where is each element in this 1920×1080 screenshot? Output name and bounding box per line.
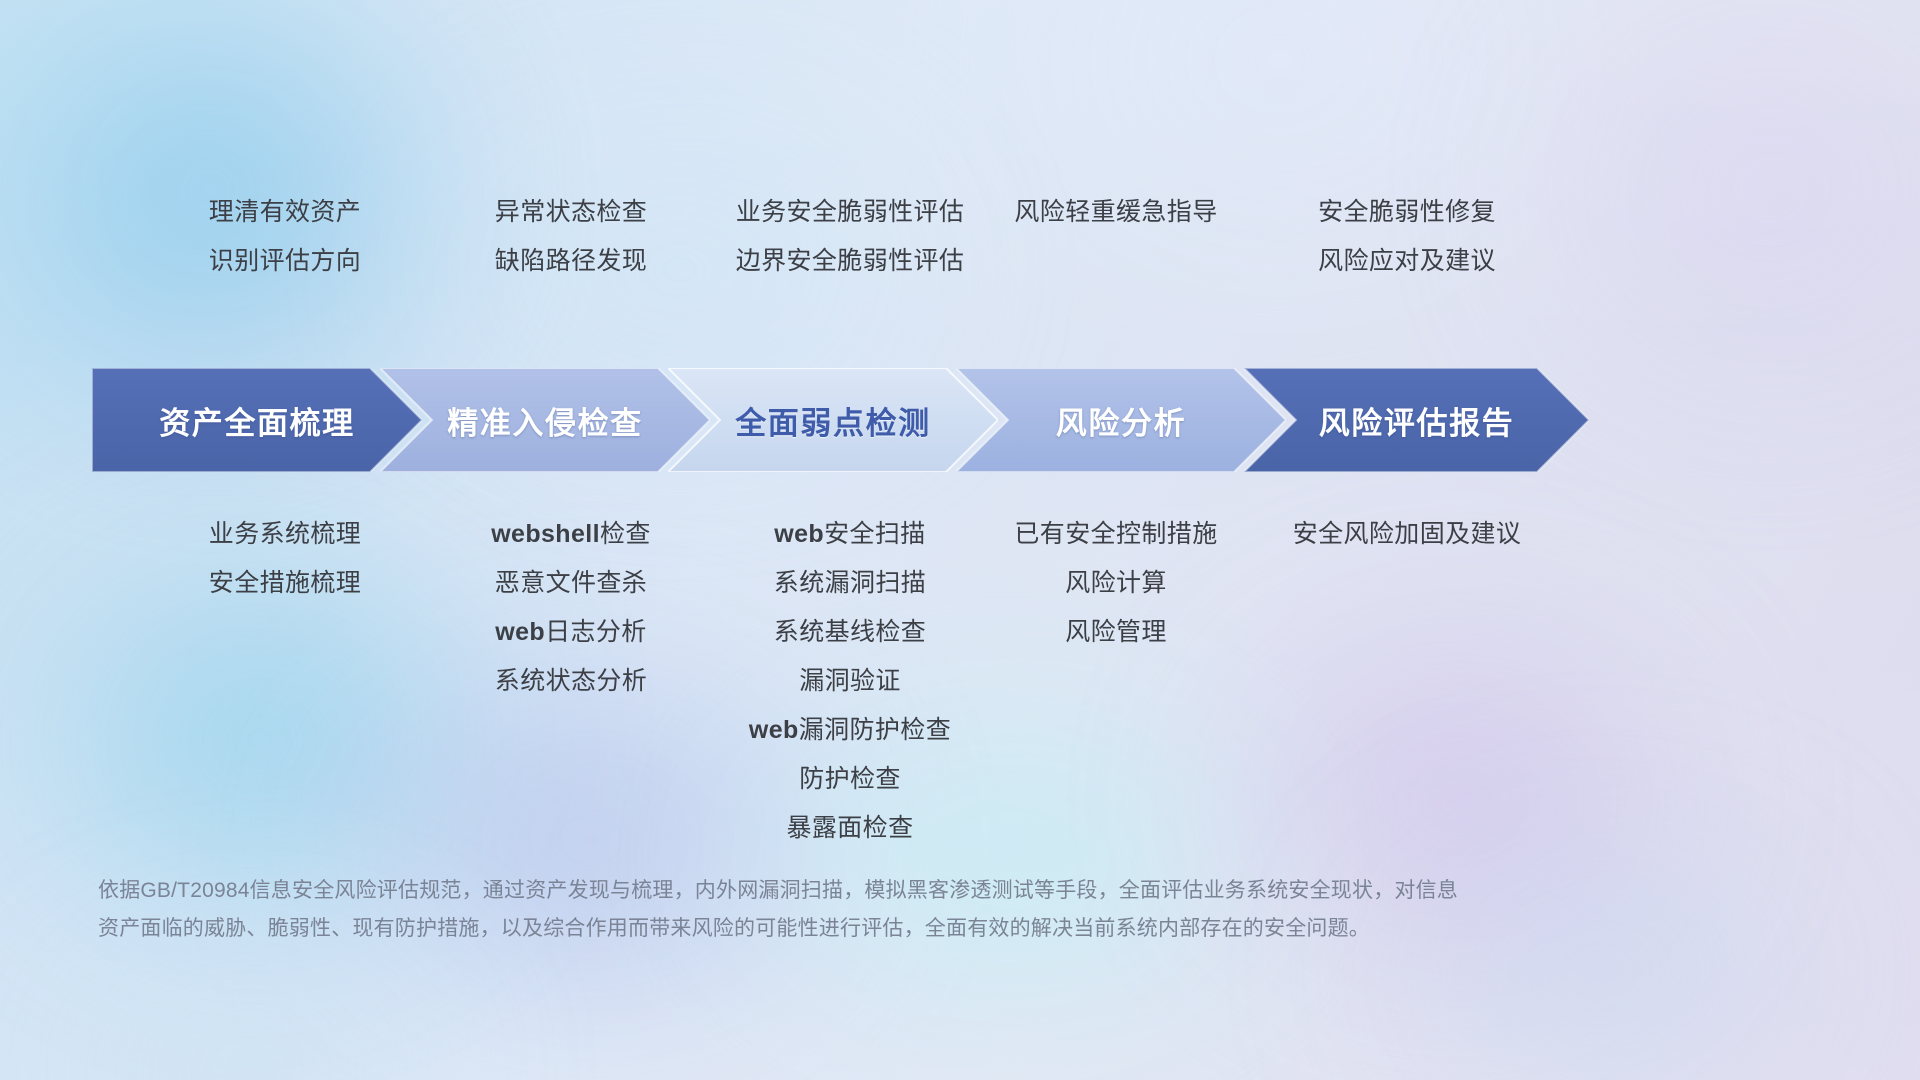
stage-title: 资产全面梳理 [159,398,355,443]
stage-chevron-weakness-detection[interactable]: 全面弱点检测 [668,368,998,472]
stage-chevron-band: 资产全面梳理 精准入侵检查 [0,368,1920,472]
footer-line-1: 依据GB/T20984信息安全风险评估规范，通过资产发现与梳理，内外网漏洞扫描，… [98,872,1608,910]
stage-title: 风险分析 [1056,398,1186,443]
footer-description: 依据GB/T20984信息安全风险评估规范，通过资产发现与梳理，内外网漏洞扫描，… [98,872,1608,948]
stage-title: 风险评估报告 [1319,398,1515,443]
top-note: 安全脆弱性修复 [1172,188,1642,237]
bottom-item: web漏洞防护检查 [615,706,1085,755]
stage-chevron-risk-analysis[interactable]: 风险分析 [956,368,1286,472]
bottom-items-col-5: 安全风险加固及建议 [1172,510,1642,559]
bottom-item: 风险管理 [916,608,1316,657]
bottom-item: 安全风险加固及建议 [1172,510,1642,559]
bottom-item: 漏洞验证 [615,657,1085,706]
top-note: 风险应对及建议 [1172,237,1642,286]
top-note: 边界安全脆弱性评估 [615,237,1085,286]
bottom-item: 风险计算 [916,559,1316,608]
stage-title: 全面弱点检测 [735,398,931,443]
stage-chevron-asset-inventory[interactable]: 资产全面梳理 [92,368,422,472]
process-diagram: 理清有效资产 识别评估方向 异常状态检查 缺陷路径发现 业务安全脆弱性评估 边界… [0,0,1920,1080]
footer-line-2: 资产面临的威胁、脆弱性、现有防护措施，以及综合作用而带来风险的可能性进行评估，全… [98,910,1608,948]
bottom-item: 暴露面检查 [615,804,1085,853]
stage-title: 精准入侵检查 [447,398,643,443]
stage-chevron-intrusion-check[interactable]: 精准入侵检查 [380,368,710,472]
bottom-item: 防护检查 [615,755,1085,804]
stage-chevron-risk-report[interactable]: 风险评估报告 [1244,368,1589,472]
top-notes-col-5: 安全脆弱性修复 风险应对及建议 [1172,188,1642,286]
